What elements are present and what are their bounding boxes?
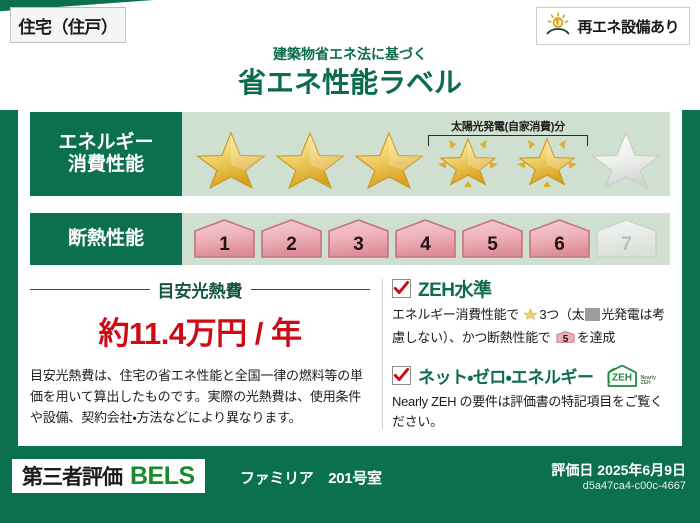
star-icon-3 xyxy=(350,125,428,191)
zeh-logo-sub-line2: ZEH xyxy=(641,380,651,386)
solar-sun-icon xyxy=(545,12,571,41)
zeh-logo: ZEH Nearly ZEH xyxy=(605,363,656,389)
insulation-level-5-number: 5 xyxy=(460,234,525,256)
insulation-level-scale: 1 2 3 xyxy=(182,217,659,261)
building-type-tag: 住宅（住戸） xyxy=(10,7,126,43)
insulation-level-2: 2 xyxy=(259,217,324,261)
net-zero-energy-checkbox[interactable] xyxy=(392,366,411,385)
insulation-level-6: 6 xyxy=(527,217,592,261)
star-icon-5-solar xyxy=(508,125,586,191)
third-party-evaluation-text: 第三者評価 xyxy=(22,461,122,491)
insulation-level-1: 1 xyxy=(192,217,257,261)
zeh-body-part2: （太 xyxy=(559,307,584,322)
label-detail-section: 目安光熱費 約11.4万円 / 年 目安光熱費は、住宅の省エネ性能と全国一律の燃… xyxy=(30,275,670,435)
zeh-standard-header: ZEH水準 xyxy=(392,275,670,302)
energy-performance-label-key: エネルギー 消費性能 xyxy=(30,112,182,196)
net-zero-energy-body: Nearly ZEH の要件は評価書の特記項目をご覧ください。 xyxy=(392,392,670,434)
insulation-level-3-number: 3 xyxy=(326,234,391,256)
insulation-level-6-number: 6 xyxy=(527,234,592,256)
inline-house-level-icon: 5 xyxy=(556,329,575,345)
utility-cost-heading: 目安光熱費 xyxy=(30,277,370,302)
evaluation-date-value: 2025年6月9日 xyxy=(597,462,686,478)
building-name: ファミリア 201号室 xyxy=(240,467,382,488)
insulation-level-7-inactive: 7 xyxy=(594,217,659,261)
renewable-energy-badge-label: 再エネ設備あり xyxy=(577,16,679,37)
star-icon-4-solar xyxy=(429,125,507,191)
zeh-standard-checkbox[interactable] xyxy=(392,279,411,298)
evaluation-date-label: 評価日 xyxy=(551,462,593,478)
star-icon-6-empty xyxy=(587,125,665,191)
zeh-logo-subtext: Nearly ZEH xyxy=(641,376,656,389)
inline-star-icon xyxy=(523,306,538,328)
insulation-level-3: 3 xyxy=(326,217,391,261)
insulation-level-1-number: 1 xyxy=(192,234,257,256)
zeh-body-part1: エネルギー消費性能で xyxy=(392,307,519,322)
net-zero-energy-block: ネット・ゼロ・エネルギー ZEH Nearly ZEH xyxy=(392,363,670,434)
zeh-house-icon: ZEH xyxy=(605,363,639,389)
zeh-body-star-count: 3つ xyxy=(539,307,559,322)
renewable-energy-badge: 再エネ設備あり xyxy=(536,7,690,45)
svg-text:ZEH: ZEH xyxy=(612,372,632,383)
certification-column: ZEH水準 エネルギー消費性能で 3つ（太光発電は考慮しない）、かつ断熱性能で xyxy=(378,275,670,435)
energy-key-line2: 消費性能 xyxy=(68,154,144,176)
evaluation-id: d5a47ca4-c00c-4667 xyxy=(583,480,686,492)
energy-performance-label: 住宅（住戸） 再エネ設備あり 建築物省エネ法に基づく 省エネ性能ラベル xyxy=(0,0,700,523)
net-zero-energy-header: ネット・ゼロ・エネルギー ZEH Nearly ZEH xyxy=(392,363,670,389)
energy-performance-value: 太陽光発電(自家消費)分 xyxy=(182,112,670,196)
energy-key-line1: エネルギー xyxy=(58,132,153,154)
insulation-level-7-number: 7 xyxy=(594,234,659,256)
label-footer: 第三者評価 BELS ファミリア 201号室 評価日 2025年6月9日 d5a… xyxy=(0,452,700,523)
utility-cost-heading-text: 目安光熱費 xyxy=(158,277,243,302)
insulation-level-4: 4 xyxy=(393,217,458,261)
insulation-level-2-number: 2 xyxy=(259,234,324,256)
insulation-performance-value: 1 2 3 xyxy=(182,213,670,265)
redacted-character-block xyxy=(585,308,600,321)
utility-cost-note: 目安光熱費は、住宅の省エネ性能と全国一律の燃料等の単価を用いて算出したものです。… xyxy=(30,365,370,428)
star-rating xyxy=(182,125,665,191)
zeh-standard-body: エネルギー消費性能で 3つ（太光発電は考慮しない）、かつ断熱性能で 5 を達成 xyxy=(392,305,670,349)
page-title: 省エネ性能ラベル xyxy=(0,61,700,101)
bels-certification-mark: 第三者評価 BELS xyxy=(12,459,205,493)
insulation-level-5: 5 xyxy=(460,217,525,261)
label-body-card: エネルギー 消費性能 太陽光発電(自家消費)分 xyxy=(18,101,682,446)
heading-rule-left xyxy=(30,289,150,291)
insulation-level-4-number: 4 xyxy=(393,234,458,256)
zeh-standard-block: ZEH水準 エネルギー消費性能で 3つ（太光発電は考慮しない）、かつ断熱性能で xyxy=(392,275,670,349)
utility-cost-column: 目安光熱費 約11.4万円 / 年 目安光熱費は、住宅の省エネ性能と全国一律の燃… xyxy=(30,275,378,435)
evaluation-date: 評価日 2025年6月9日 xyxy=(551,460,686,480)
bels-wordmark: BELS xyxy=(130,462,195,491)
zeh-standard-title: ZEH水準 xyxy=(418,275,492,302)
utility-cost-value: 約11.4万円 / 年 xyxy=(30,308,370,353)
inline-house-level-number: 5 xyxy=(556,332,575,348)
heading-rule-right xyxy=(251,289,371,291)
zeh-body-part4: を達成 xyxy=(577,330,615,345)
star-icon-2 xyxy=(271,125,349,191)
star-icon-1 xyxy=(192,125,270,191)
insulation-performance-row: 断熱性能 xyxy=(30,213,670,265)
energy-performance-row: エネルギー 消費性能 太陽光発電(自家消費)分 xyxy=(30,112,670,196)
insulation-performance-label-key: 断熱性能 xyxy=(30,213,182,265)
net-zero-energy-title: ネット・ゼロ・エネルギー xyxy=(418,363,594,388)
